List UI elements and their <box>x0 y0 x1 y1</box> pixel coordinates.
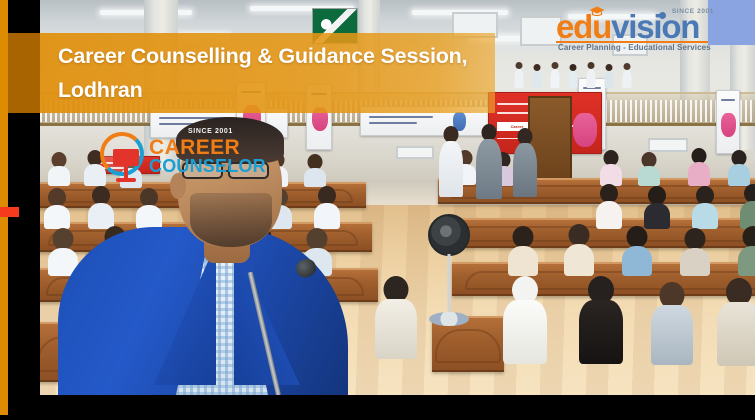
audience-member <box>622 226 652 272</box>
frame-bar-top <box>8 0 40 33</box>
logo-i-dot <box>659 12 666 19</box>
standing-attendee <box>478 124 500 198</box>
speaker-beard <box>190 193 272 247</box>
red-accent-tick <box>0 207 19 217</box>
audience-member <box>514 62 523 88</box>
audience-member <box>564 224 594 272</box>
audience-member <box>718 278 755 364</box>
page-title-line-2: Lodhran <box>58 73 489 107</box>
audience-member <box>600 150 622 184</box>
audience-member <box>622 63 631 88</box>
audience-member <box>738 226 755 272</box>
audience-member <box>504 276 546 362</box>
eduvision-logo[interactable]: eduvision SINCE 2001 Career Planning - E… <box>554 6 714 53</box>
audience-member <box>740 184 755 226</box>
watermark-since-badge: SINCE 2001 <box>188 128 233 135</box>
audience-member <box>550 62 559 88</box>
audience-member <box>604 64 613 88</box>
logo-since-badge: SINCE 2001 <box>672 8 714 15</box>
page-title-line-1: Career Counselling & Guidance Session, <box>58 39 489 73</box>
frame-bar-corner <box>0 415 8 420</box>
standee-poster <box>716 90 740 154</box>
watermark-line-2: COUNSELOR <box>149 156 266 177</box>
logo-word-edu: edu <box>556 8 611 45</box>
standing-attendee <box>514 128 536 196</box>
audience-member <box>508 226 538 272</box>
audience-member <box>580 276 622 362</box>
audience-member <box>728 150 750 184</box>
logo-backdrop <box>708 0 755 45</box>
air-conditioner <box>648 138 688 152</box>
audience-member <box>680 228 710 272</box>
standing-attendee <box>440 126 462 196</box>
hero-banner: Career <box>0 0 755 420</box>
speaker-subject <box>58 145 348 395</box>
audience-member <box>532 64 541 88</box>
audience-member <box>688 148 710 184</box>
title-band-solid-edge <box>8 33 40 113</box>
logo-tagline: Career Planning - Educational Services <box>558 43 711 52</box>
air-conditioner <box>396 146 434 159</box>
page-title: Career Counselling & Guidance Session, L… <box>58 33 489 113</box>
pedestal-fan <box>428 214 470 332</box>
career-counselor-watermark: SINCE 2001 CAREER COUNSELOR <box>100 128 245 180</box>
audience-member <box>596 184 622 226</box>
frame-bar-bottom <box>8 395 755 420</box>
podium-lectern-icon <box>100 132 144 176</box>
audience-member <box>638 152 660 184</box>
audience-member <box>568 64 577 88</box>
audience-member <box>376 276 416 356</box>
audience-member <box>586 62 595 88</box>
audience-member <box>652 282 692 364</box>
audience-member <box>692 186 718 226</box>
audience-member <box>644 186 670 226</box>
title-overlay-band: Career Counselling & Guidance Session, L… <box>8 33 495 113</box>
frame-bar-left <box>8 113 40 395</box>
